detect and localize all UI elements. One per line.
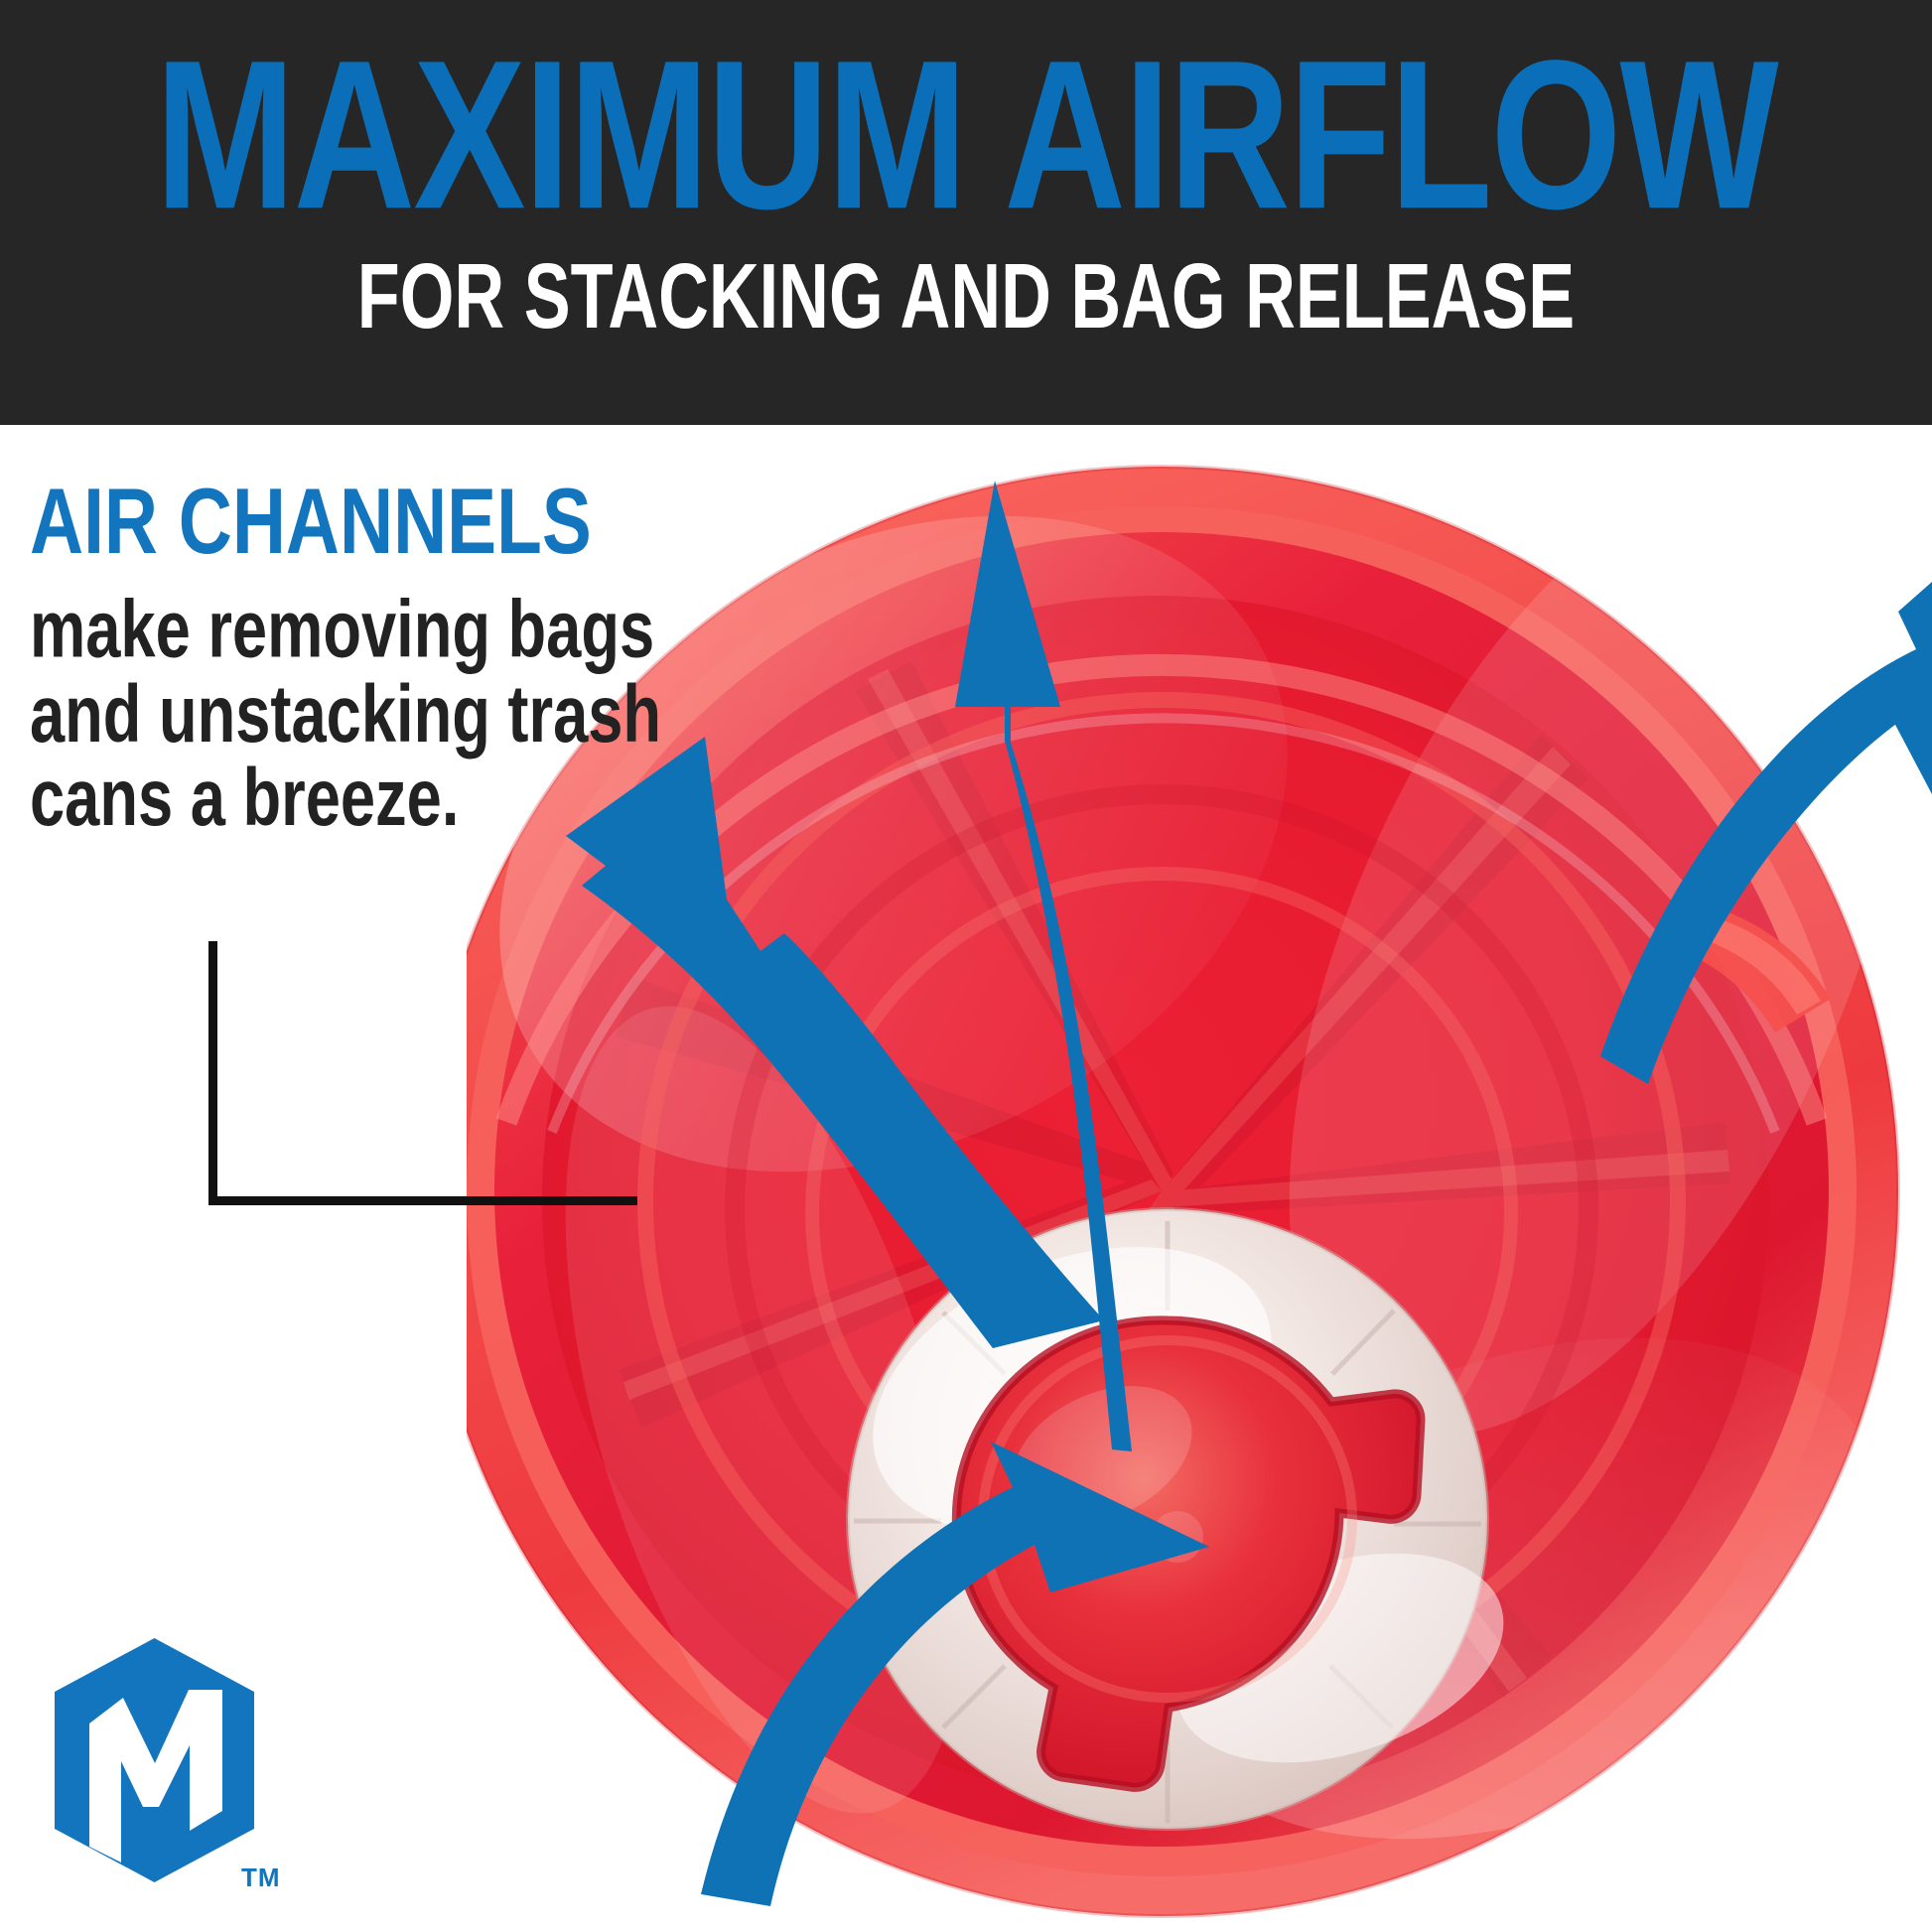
infographic-page: MAXIMUM AIRFLOW FOR STACKING AND BAG REL… (0, 0, 1932, 1932)
header-band: MAXIMUM AIRFLOW FOR STACKING AND BAG REL… (0, 0, 1932, 425)
callout-text-block: AIR CHANNELS make removing bags and unst… (30, 475, 665, 798)
leader-line-bracket (208, 941, 637, 1207)
m-hexagon-icon (48, 1636, 261, 1884)
trademark-symbol: TM (241, 1863, 281, 1893)
callout-body: make removing bags and unstacking trash … (30, 588, 621, 841)
m-hexagon-logo (48, 1636, 261, 1884)
trash-can-illustration (467, 437, 1932, 1932)
leader-line-horizontal (208, 1196, 637, 1205)
leader-line-vertical (208, 941, 217, 1205)
callout-body-line-1: make removing bags (30, 588, 621, 672)
page-title: MAXIMUM AIRFLOW (29, 36, 1903, 237)
callout-kicker: AIR CHANNELS (30, 475, 639, 568)
page-subtitle: FOR STACKING AND BAG RELEASE (49, 250, 1884, 343)
callout-body-line-2: and unstacking trash (30, 672, 621, 757)
product-image (467, 437, 1932, 1932)
callout-body-line-3: cans a breeze. (30, 757, 621, 841)
